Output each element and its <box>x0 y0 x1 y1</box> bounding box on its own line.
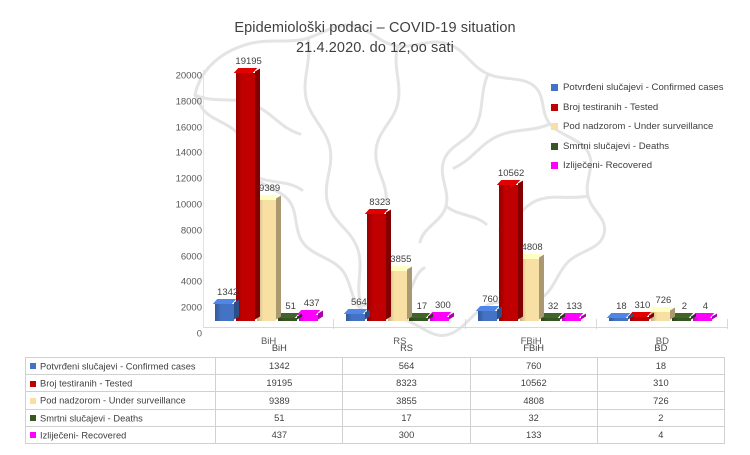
y-axis-tick: 2000 <box>160 303 202 314</box>
bar-value-label: 19195 <box>219 56 279 67</box>
table-cell: 310 <box>597 375 724 392</box>
legend-color-swatch <box>551 84 558 91</box>
table-series-swatch <box>30 432 36 438</box>
y-axis-tick: 0 <box>160 329 202 340</box>
legend-item[interactable]: Smrtni slučajevi - Deaths <box>551 137 724 157</box>
table-header-row: BiHRSFBiHBD <box>26 340 725 357</box>
chart-title: Epidemiološki podaci – COVID-19 situatio… <box>0 18 750 58</box>
bar[interactable] <box>630 317 649 321</box>
legend-item[interactable]: Potvrđeni slučajevi - Confirmed cases <box>551 78 724 98</box>
legend-item-label: Pod nadzorom - Under surveillance <box>563 121 713 132</box>
y-axis-tick: 16000 <box>160 122 202 133</box>
y-axis-tick: 14000 <box>160 148 202 159</box>
bar[interactable] <box>541 318 560 321</box>
chart-legend: Potvrđeni slučajevi - Confirmed casesBro… <box>551 78 724 176</box>
bar-value-label: 564 <box>329 297 389 308</box>
table-row-label: Izliječeni- Recovered <box>26 426 216 443</box>
chart-title-line-1: Epidemiološki podaci – COVID-19 situatio… <box>0 18 750 38</box>
table-cell: 51 <box>216 409 343 426</box>
bar-front-face <box>609 318 628 321</box>
table-cell: 2 <box>597 409 724 426</box>
bar-front-face <box>630 317 649 321</box>
y-axis-tick: 4000 <box>160 277 202 288</box>
table-cell: 760 <box>470 357 597 374</box>
bar-front-face <box>562 318 581 321</box>
table-column-header: BD <box>597 340 724 357</box>
bar-value-label: 760 <box>460 294 520 305</box>
y-axis: 0200040006000800010000120001400016000180… <box>160 66 202 334</box>
bar-value-label: 4 <box>675 301 735 312</box>
bar[interactable] <box>562 318 581 321</box>
table-cell: 4808 <box>470 392 597 409</box>
table-row: Smrtni slučajevi - Deaths5117322 <box>26 409 725 426</box>
bar-value-label: 4808 <box>502 242 562 253</box>
y-axis-tick: 20000 <box>160 71 202 82</box>
table-cell: 9389 <box>216 392 343 409</box>
y-axis-tick: 10000 <box>160 200 202 211</box>
table-cell: 726 <box>597 392 724 409</box>
table-row-label-text: Potvrđeni slučajevi - Confirmed cases <box>40 361 196 371</box>
bar-group-rs: 5648323385517300RS <box>334 60 465 328</box>
table-corner-cell <box>26 340 216 357</box>
table-row-label-text: Broj testiranih - Tested <box>40 379 132 389</box>
table-cell: 4 <box>597 426 724 443</box>
table-series-swatch <box>30 381 36 387</box>
y-axis-tick: 6000 <box>160 251 202 262</box>
bar-value-label: 8323 <box>350 197 410 208</box>
bar[interactable] <box>478 311 497 321</box>
table-cell: 300 <box>343 426 470 443</box>
table-row: Izliječeni- Recovered4373001334 <box>26 426 725 443</box>
bar-front-face <box>478 311 497 321</box>
table-series-swatch <box>30 363 36 369</box>
table-row: Pod nadzorom - Under surveillance9389385… <box>26 392 725 409</box>
legend-item[interactable]: Pod nadzorom - Under surveillance <box>551 117 724 137</box>
table-cell: 1342 <box>216 357 343 374</box>
legend-color-swatch <box>551 143 558 150</box>
bar[interactable] <box>215 304 234 321</box>
table-cell: 10562 <box>470 375 597 392</box>
bar-front-face <box>541 318 560 321</box>
table-cell: 3855 <box>343 392 470 409</box>
bar[interactable] <box>236 73 255 321</box>
bar-group-bih: 134219195938951437BiH <box>203 60 334 328</box>
y-axis-tick: 12000 <box>160 174 202 185</box>
chart-page: Epidemiološki podaci – COVID-19 situatio… <box>0 0 750 455</box>
bar-top-face <box>496 180 520 185</box>
bar-front-face <box>346 314 365 321</box>
bar-side-face <box>318 311 323 320</box>
data-table: BiHRSFBiHBDPotvrđeni slučajevi - Confirm… <box>25 340 725 444</box>
bar-front-face <box>278 318 297 321</box>
legend-item-label: Potvrđeni slučajevi - Confirmed cases <box>563 82 724 93</box>
bar[interactable] <box>278 318 297 321</box>
legend-item[interactable]: Broj testiranih - Tested <box>551 98 724 118</box>
bar-front-face <box>409 318 428 321</box>
table-row-label-text: Smrtni slučajevi - Deaths <box>40 413 143 423</box>
bar[interactable] <box>672 318 691 321</box>
bar[interactable] <box>430 317 449 321</box>
table-cell: 564 <box>343 357 470 374</box>
bar-side-face <box>234 299 239 319</box>
table-row-label: Potvrđeni slučajevi - Confirmed cases <box>26 357 216 374</box>
bar-value-label: 9389 <box>240 183 300 194</box>
table-row-label: Smrtni slučajevi - Deaths <box>26 409 216 426</box>
legend-color-swatch <box>551 162 558 169</box>
bar[interactable] <box>693 318 712 321</box>
chart-title-line-2: 21.4.2020. do 12,oo sati <box>0 38 750 58</box>
table-row-label: Pod nadzorom - Under surveillance <box>26 392 216 409</box>
table-row-label-text: Izliječeni- Recovered <box>40 430 126 440</box>
table-cell: 32 <box>470 409 597 426</box>
bar-value-label: 3855 <box>371 254 431 265</box>
bar-front-face <box>693 318 712 321</box>
table-column-header: FBiH <box>470 340 597 357</box>
table-cell: 18 <box>597 357 724 374</box>
legend-color-swatch <box>551 123 558 130</box>
table-row: Broj testiranih - Tested1919583231056231… <box>26 375 725 392</box>
bar-front-face <box>215 304 234 321</box>
bar-front-face <box>388 271 407 321</box>
legend-item-label: Broj testiranih - Tested <box>563 102 658 113</box>
bar-front-face <box>672 318 691 321</box>
table-cell: 437 <box>216 426 343 443</box>
bar[interactable] <box>609 318 628 321</box>
bar-front-face <box>430 317 449 321</box>
table-cell: 8323 <box>343 375 470 392</box>
table-row-label-text: Pod nadzorom - Under surveillance <box>40 396 186 406</box>
legend-item[interactable]: Izliječeni- Recovered <box>551 156 724 176</box>
bar-side-face <box>255 69 260 320</box>
legend-color-swatch <box>551 104 558 111</box>
bar[interactable] <box>409 318 428 321</box>
table-series-swatch <box>30 398 36 404</box>
y-axis-tick: 18000 <box>160 96 202 107</box>
table-cell: 17 <box>343 409 470 426</box>
table-cell: 133 <box>470 426 597 443</box>
bar-front-face <box>236 73 255 321</box>
table-series-swatch <box>30 415 36 421</box>
table-row-label: Broj testiranih - Tested <box>26 375 216 392</box>
table-column-header: BiH <box>216 340 343 357</box>
bar[interactable] <box>388 271 407 321</box>
x-axis-tick <box>727 319 728 329</box>
table-row: Potvrđeni slučajevi - Confirmed cases134… <box>26 357 725 374</box>
bar[interactable] <box>346 314 365 321</box>
table-cell: 19195 <box>216 375 343 392</box>
bar-value-label: 10562 <box>481 168 541 179</box>
legend-item-label: Izliječeni- Recovered <box>563 160 652 171</box>
legend-item-label: Smrtni slučajevi - Deaths <box>563 141 669 152</box>
bar-value-label: 1342 <box>198 287 258 298</box>
y-axis-tick: 8000 <box>160 225 202 236</box>
table-column-header: RS <box>343 340 470 357</box>
